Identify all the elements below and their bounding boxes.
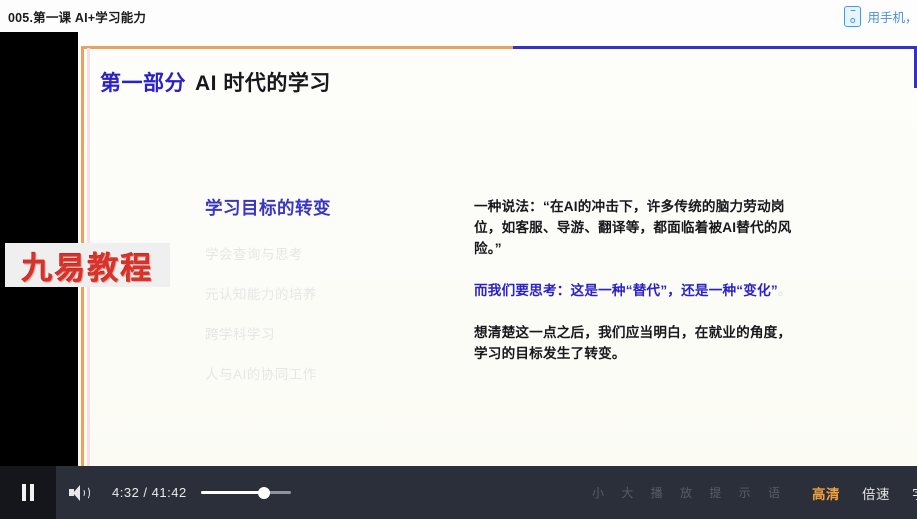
- left-column-item-2: 元认知能力的培养: [205, 283, 415, 303]
- slide-title: 第一部分AI 时代的学习: [100, 67, 331, 97]
- player-controls: 4:32 / 41:42 小 大 播 放 提 示 语 高清 倍速 字: [0, 466, 917, 519]
- slide-paragraph-2: 而我们要思考：这是一种“替代”，还是一种“变化”。: [474, 280, 804, 301]
- volume-fill: [201, 491, 264, 494]
- pause-button[interactable]: [0, 466, 56, 519]
- slide-border-top-orange: [81, 46, 516, 49]
- slide-right-column: 一种说法：“在AI的冲击下，许多传统的脑力劳动岗位，如客服、导游、翻译等，都面临…: [474, 196, 804, 364]
- mobile-promo-label: 用手机，随: [867, 7, 917, 26]
- phone-icon: [844, 6, 861, 27]
- slide-title-part: 第一部分: [100, 72, 186, 95]
- volume-icon: [69, 485, 89, 501]
- slide-paragraph-3: 想清楚这一点之后，我们应当明白，在就业的角度，学习的目标发生了转变。: [474, 322, 804, 364]
- slide-paragraph-1: 一种说法：“在AI的冲击下，许多传统的脑力劳动岗位，如客服、导游、翻译等，都面临…: [474, 196, 804, 259]
- mobile-promo[interactable]: 用手机，随: [844, 0, 917, 32]
- quality-button[interactable]: 高清: [801, 483, 851, 503]
- left-column-item-3: 跨学科学习: [205, 323, 415, 343]
- overlay-ghost-text: 小 大 播 放 提 示 语: [592, 484, 787, 501]
- page-title: 005.第一课 AI+学习能力: [8, 7, 146, 26]
- player-controls-left: 4:32 / 41:42: [0, 466, 291, 519]
- slide-paragraph-2-tail: 。: [778, 283, 792, 298]
- slide-paragraph-2-text: 而我们要思考：这是一种“替代”，还是一种“变化”: [474, 283, 778, 298]
- watermark-text: 九易教程: [22, 243, 154, 287]
- left-column-item-1: 学会查询与思考: [205, 243, 415, 263]
- slide-canvas: 第一部分AI 时代的学习 学习目标的转变 学会查询与思考 元认知能力的培养 跨学…: [78, 32, 917, 487]
- volume-slider[interactable]: [201, 486, 291, 500]
- slide-title-rest: AI 时代的学习: [195, 72, 331, 95]
- volume-knob[interactable]: [258, 487, 270, 499]
- video-player-page: 005.第一课 AI+学习能力 用手机，随 第一部分AI 时代的学习 学习目标的…: [0, 0, 917, 519]
- top-bar: 005.第一课 AI+学习能力 用手机，随: [0, 0, 917, 32]
- left-column-heading: 学习目标的转变: [205, 195, 415, 220]
- player-controls-right: 小 大 播 放 提 示 语 高清 倍速 字: [592, 466, 917, 519]
- left-column-item-4: 人与AI的协同工作: [205, 363, 415, 383]
- video-stage[interactable]: 第一部分AI 时代的学习 学习目标的转变 学会查询与思考 元认知能力的培养 跨学…: [0, 32, 917, 519]
- watermark: 九易教程: [5, 243, 170, 287]
- slide-left-column: 学习目标的转变 学会查询与思考 元认知能力的培养 跨学科学习 人与AI的协同工作: [205, 195, 415, 383]
- playback-speed-button[interactable]: 倍速: [851, 483, 901, 503]
- subtitle-button[interactable]: 字: [901, 483, 917, 503]
- volume-button[interactable]: [56, 466, 102, 519]
- pause-icon: [22, 484, 34, 501]
- time-display: 4:32 / 41:42: [112, 485, 187, 500]
- slide-border-top-blue: [513, 46, 917, 49]
